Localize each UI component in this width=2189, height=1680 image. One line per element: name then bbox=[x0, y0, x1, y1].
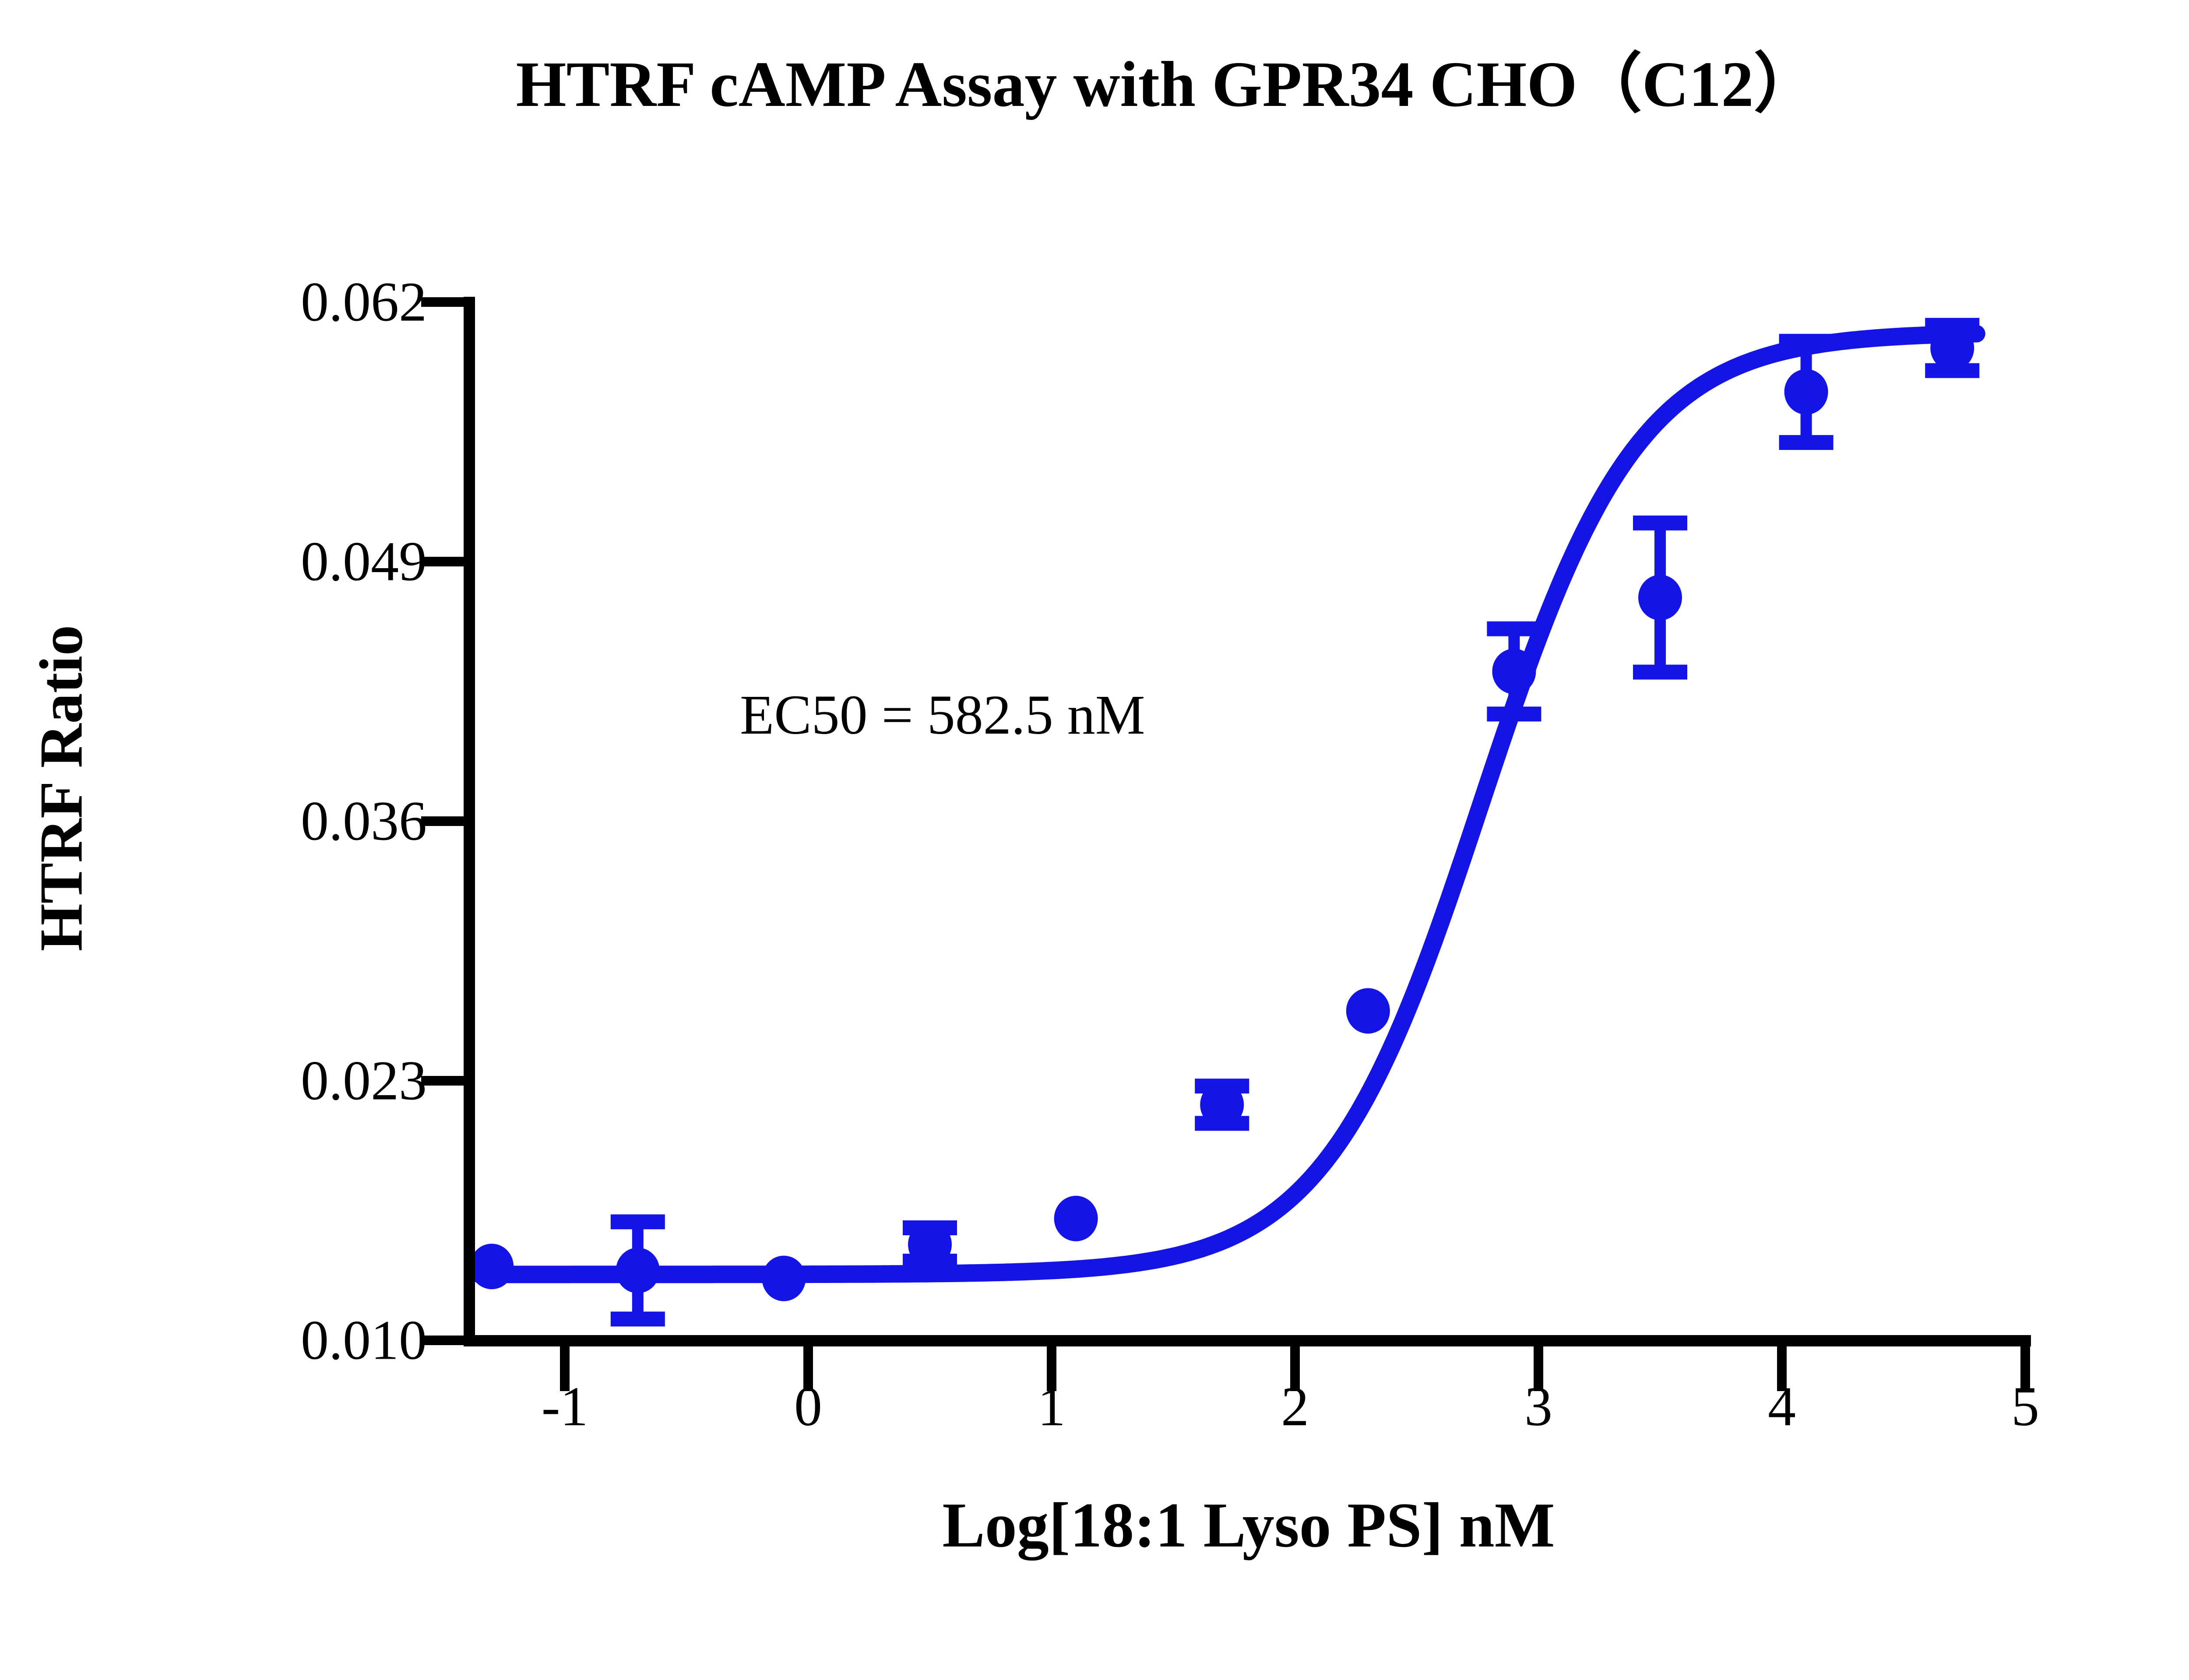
data-point-6 bbox=[1346, 988, 1390, 1033]
data-series-layer bbox=[470, 318, 1979, 1326]
chart-canvas: HTRF cAMP Assay with GPR34 CHO（C12） HTRF… bbox=[0, 0, 2189, 1680]
x-tick-mark-5 bbox=[1777, 1346, 1787, 1391]
y-tick-mark-3 bbox=[421, 557, 469, 566]
data-point-8 bbox=[1638, 575, 1682, 620]
plot-area bbox=[0, 0, 2189, 1680]
x-tick-mark-3 bbox=[1290, 1346, 1300, 1391]
y-tick-mark-0 bbox=[421, 1336, 469, 1345]
x-tick-mark-6 bbox=[2020, 1346, 2030, 1391]
data-point-5 bbox=[1200, 1082, 1244, 1128]
data-point-9 bbox=[1784, 369, 1828, 415]
fit-curve bbox=[479, 334, 1976, 1274]
y-tick-mark-2 bbox=[421, 816, 469, 826]
data-point-0 bbox=[470, 1244, 514, 1289]
y-tick-mark-4 bbox=[421, 297, 469, 307]
x-axis-line bbox=[464, 1335, 2031, 1346]
y-tick-mark-1 bbox=[421, 1076, 469, 1086]
data-point-10 bbox=[1930, 325, 1974, 371]
x-tick-mark-4 bbox=[1534, 1346, 1543, 1391]
data-point-2 bbox=[762, 1256, 806, 1301]
data-point-3 bbox=[908, 1222, 952, 1267]
x-tick-mark-2 bbox=[1047, 1346, 1056, 1391]
x-tick-mark-0 bbox=[560, 1346, 570, 1391]
data-point-4 bbox=[1054, 1196, 1098, 1241]
data-point-7 bbox=[1492, 649, 1536, 694]
x-tick-mark-1 bbox=[803, 1346, 813, 1391]
data-point-1 bbox=[616, 1248, 660, 1293]
